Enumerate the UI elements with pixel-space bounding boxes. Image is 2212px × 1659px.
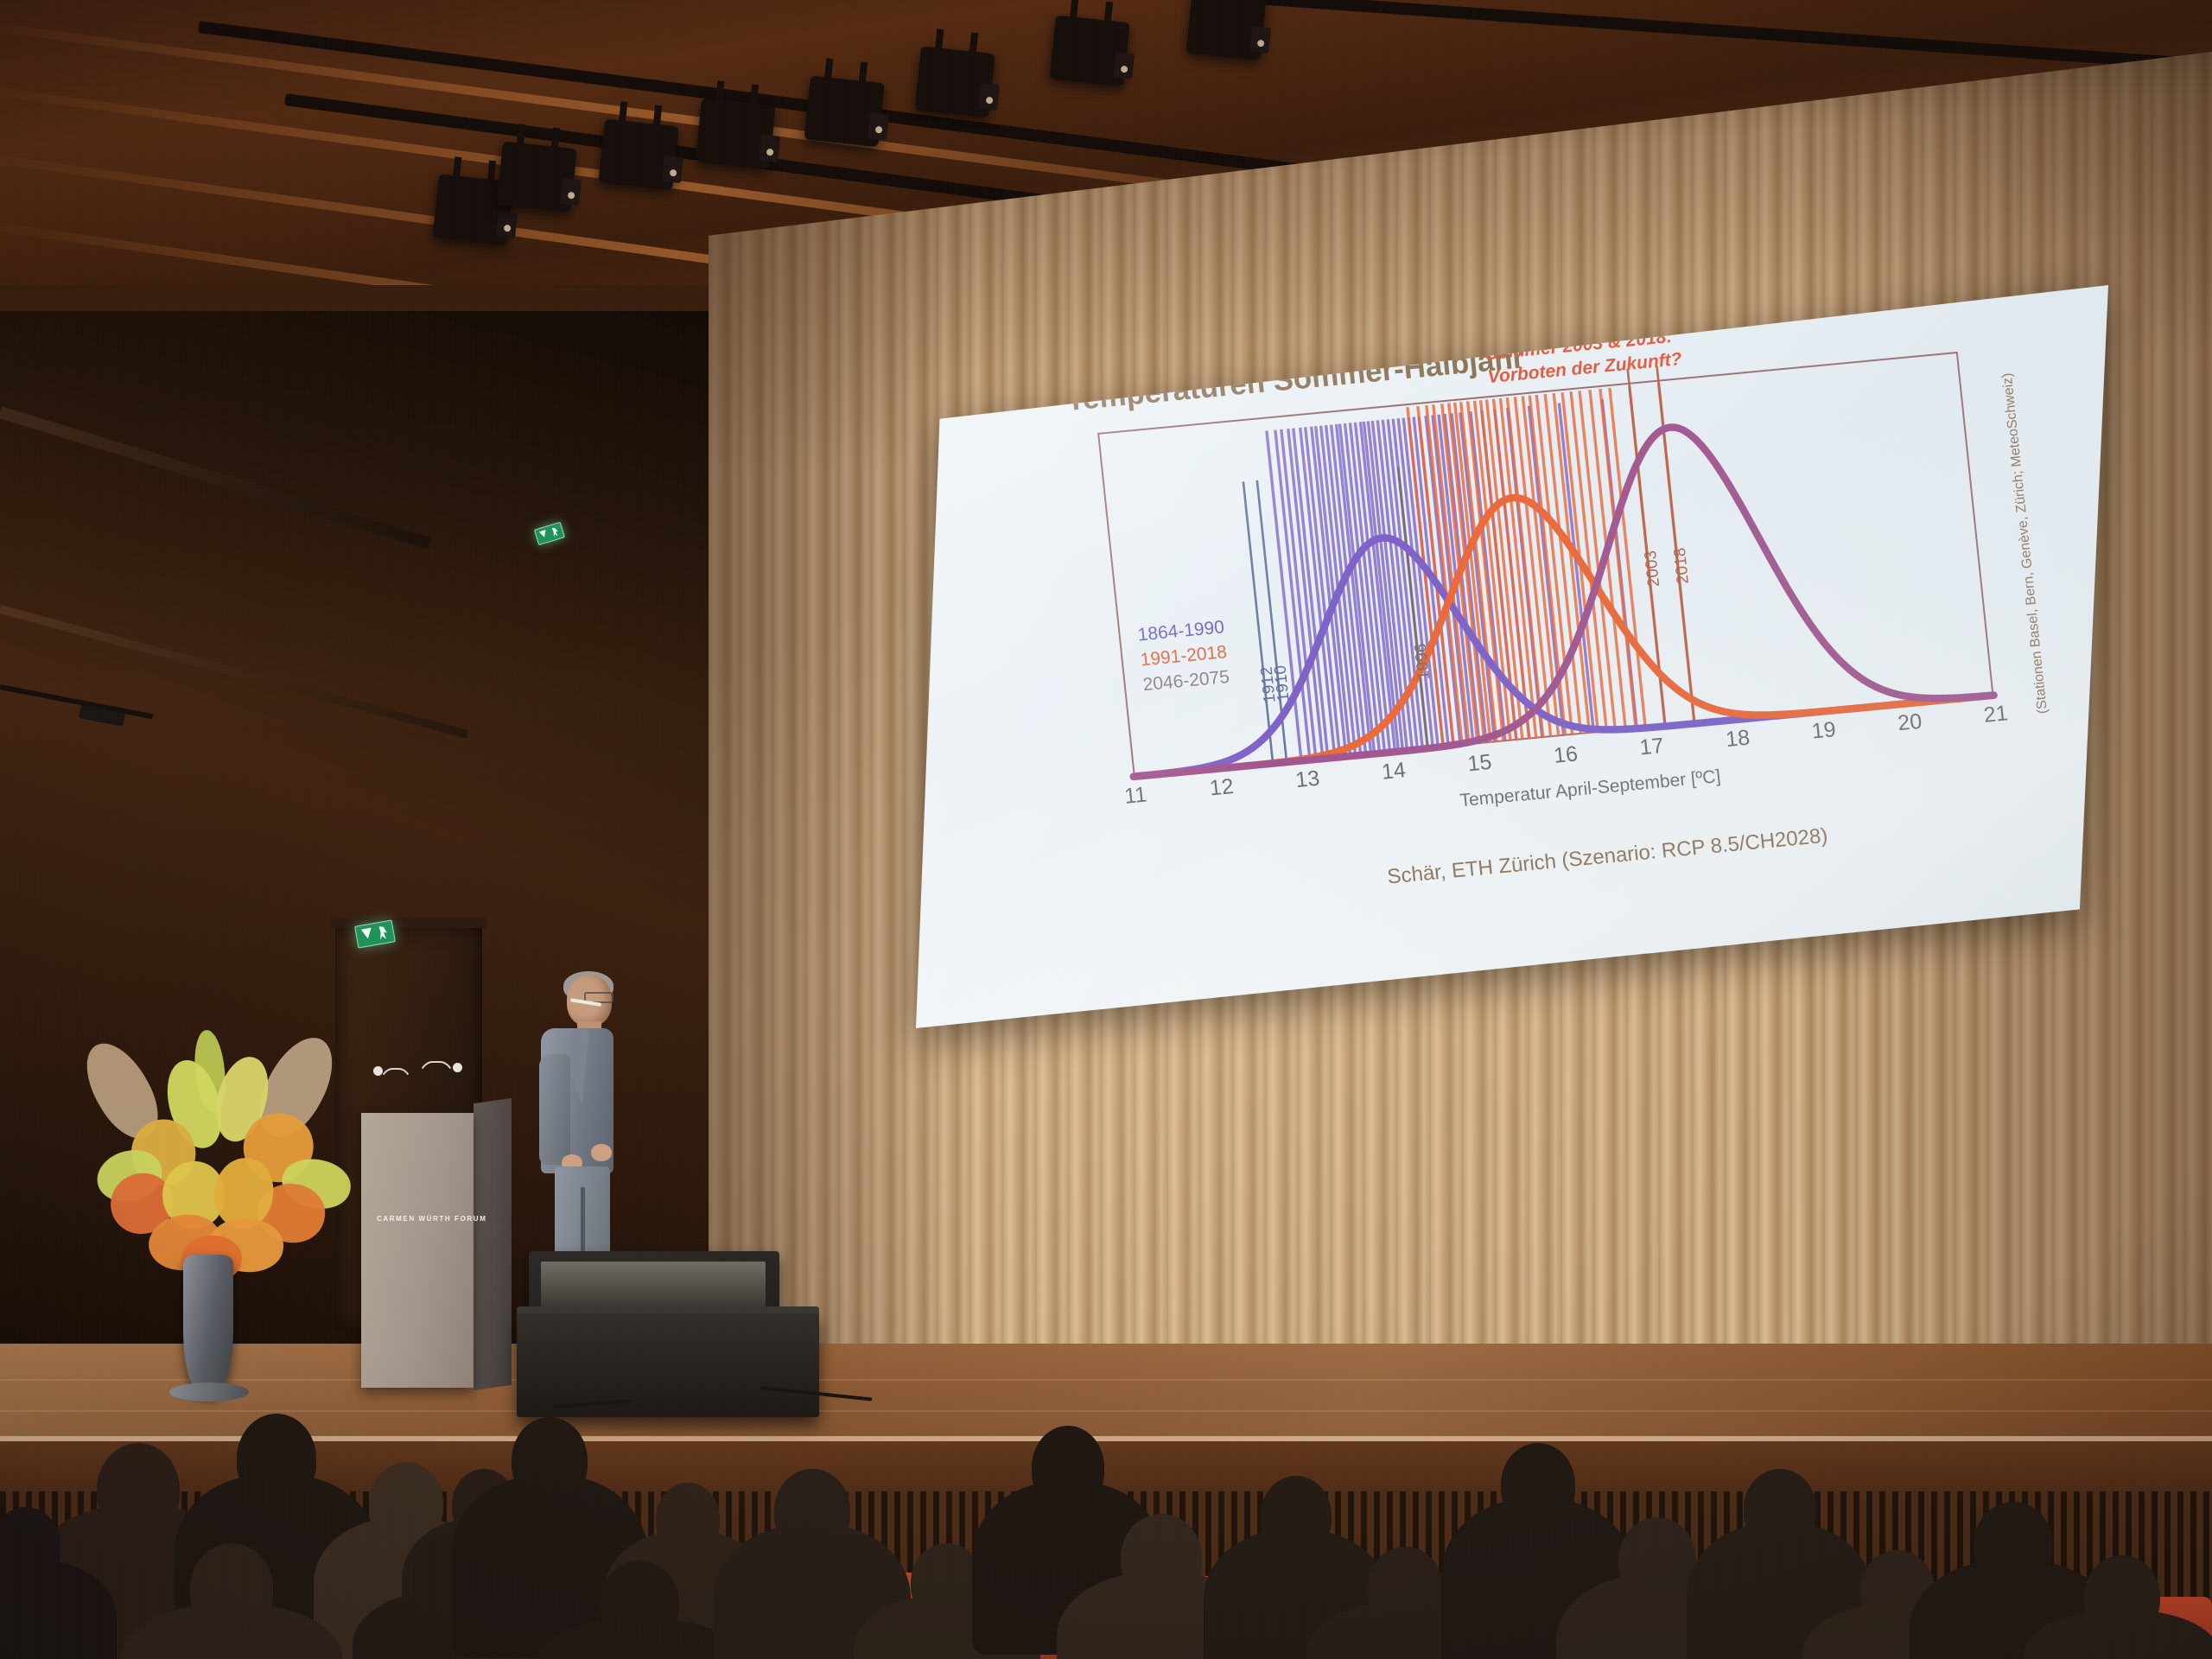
chart-plot-area <box>1097 352 1993 777</box>
x-axis-tick-19: 19 <box>1810 717 1837 744</box>
stage-spotlight-icon <box>599 119 679 191</box>
audience-member-head <box>656 1483 720 1554</box>
lectern: CARMEN WÜRTH FORUM <box>361 1113 504 1389</box>
year-marker-label-2018: 2018 <box>1671 547 1694 585</box>
audience-member-head <box>1261 1476 1332 1555</box>
year-marker-label-2003: 2003 <box>1642 550 1664 588</box>
slide-content: Wie extrem war 2018 aus klimatologischer… <box>954 202 2144 987</box>
audience-member-head <box>512 1417 588 1503</box>
audience-member-head <box>97 1443 180 1536</box>
microphone-head-icon <box>453 1063 462 1072</box>
projection-screen: Wie extrem war 2018 aus klimatologischer… <box>916 285 2108 1028</box>
x-axis-tick-16: 16 <box>1553 741 1580 768</box>
temperature-distribution-chart: Sommer 2003 & 2018: Vorboten der Zukunft… <box>1097 352 2000 837</box>
audience-member-head <box>1032 1426 1104 1509</box>
audience-member-head <box>1367 1547 1443 1628</box>
x-axis-tick-12: 12 <box>1208 774 1235 801</box>
chart-svg <box>1097 352 1993 777</box>
stage-floor-plank-line <box>0 1379 2212 1381</box>
stage-spotlight-icon <box>1186 0 1267 60</box>
slide-side-note: (Stationen Basel, Bern, Genève, Zürich; … <box>2000 372 2051 715</box>
x-axis-tick-15: 15 <box>1466 750 1493 777</box>
x-axis-tick-20: 20 <box>1897 709 1923 736</box>
year-marker-label-1910: 1910 <box>1271 664 1294 702</box>
audience-member-head <box>1618 1517 1696 1602</box>
flower-vase-base <box>169 1382 249 1402</box>
lectern-front-panel: CARMEN WÜRTH FORUM <box>361 1113 474 1388</box>
x-axis-tick-13: 13 <box>1294 766 1321 793</box>
x-axis-tick-17: 17 <box>1638 734 1665 760</box>
speaker-arm <box>539 1054 570 1165</box>
audience-member-head <box>1501 1443 1575 1526</box>
microphone-gooseneck-icon <box>377 1068 415 1123</box>
audience-member-head <box>600 1560 679 1645</box>
x-axis-tick-11: 11 <box>1123 783 1148 810</box>
lectern-side-panel <box>474 1098 512 1390</box>
audience-member-head <box>1744 1469 1816 1548</box>
audience-member-head <box>190 1543 273 1633</box>
chart-legend: 1864-1990 1991-2018 2046-2075 <box>1136 615 1230 698</box>
confidence-monitor-screen <box>541 1262 766 1306</box>
microphone-gooseneck-icon <box>415 1061 458 1123</box>
lectern-logo-text: CARMEN WÜRTH FORUM <box>377 1215 486 1223</box>
audience-member-head <box>1121 1514 1202 1600</box>
equipment-case <box>517 1313 819 1417</box>
x-axis-tick-21: 21 <box>1982 701 2009 728</box>
year-marker-label-1996: 1996 <box>1412 643 1434 681</box>
microphone-head-icon <box>373 1066 383 1076</box>
flower-vase <box>183 1255 233 1395</box>
stage-spotlight-icon <box>497 142 577 213</box>
speaker-person <box>536 975 631 1260</box>
slide-footer-citation: Schär, ETH Zürich (Szenario: RCP 8.5/CH2… <box>1386 824 1828 890</box>
audience-member-head <box>2084 1555 2160 1637</box>
stage-floor-plank-line <box>0 1410 2212 1412</box>
audience-member-head <box>237 1414 316 1503</box>
stage-spotlight-icon <box>915 47 995 118</box>
x-axis-tick-18: 18 <box>1725 726 1751 753</box>
x-axis-tick-14: 14 <box>1381 758 1408 785</box>
audience-member-head <box>1974 1502 2053 1588</box>
speaker-hand <box>591 1144 612 1161</box>
chart-x-axis-label: Temperatur April-September [ºC] <box>1459 766 1721 811</box>
flower-arrangement <box>79 1030 356 1281</box>
stage-spotlight-icon <box>804 76 885 148</box>
stage-spotlight-icon <box>1050 16 1130 87</box>
audience-member-head <box>774 1469 850 1552</box>
presentation-photo-scene: Wie extrem war 2018 aus klimatologischer… <box>0 0 2212 1659</box>
stage-spotlight-icon <box>696 99 776 170</box>
slide-surface: Wie extrem war 2018 aus klimatologischer… <box>916 285 2108 1028</box>
